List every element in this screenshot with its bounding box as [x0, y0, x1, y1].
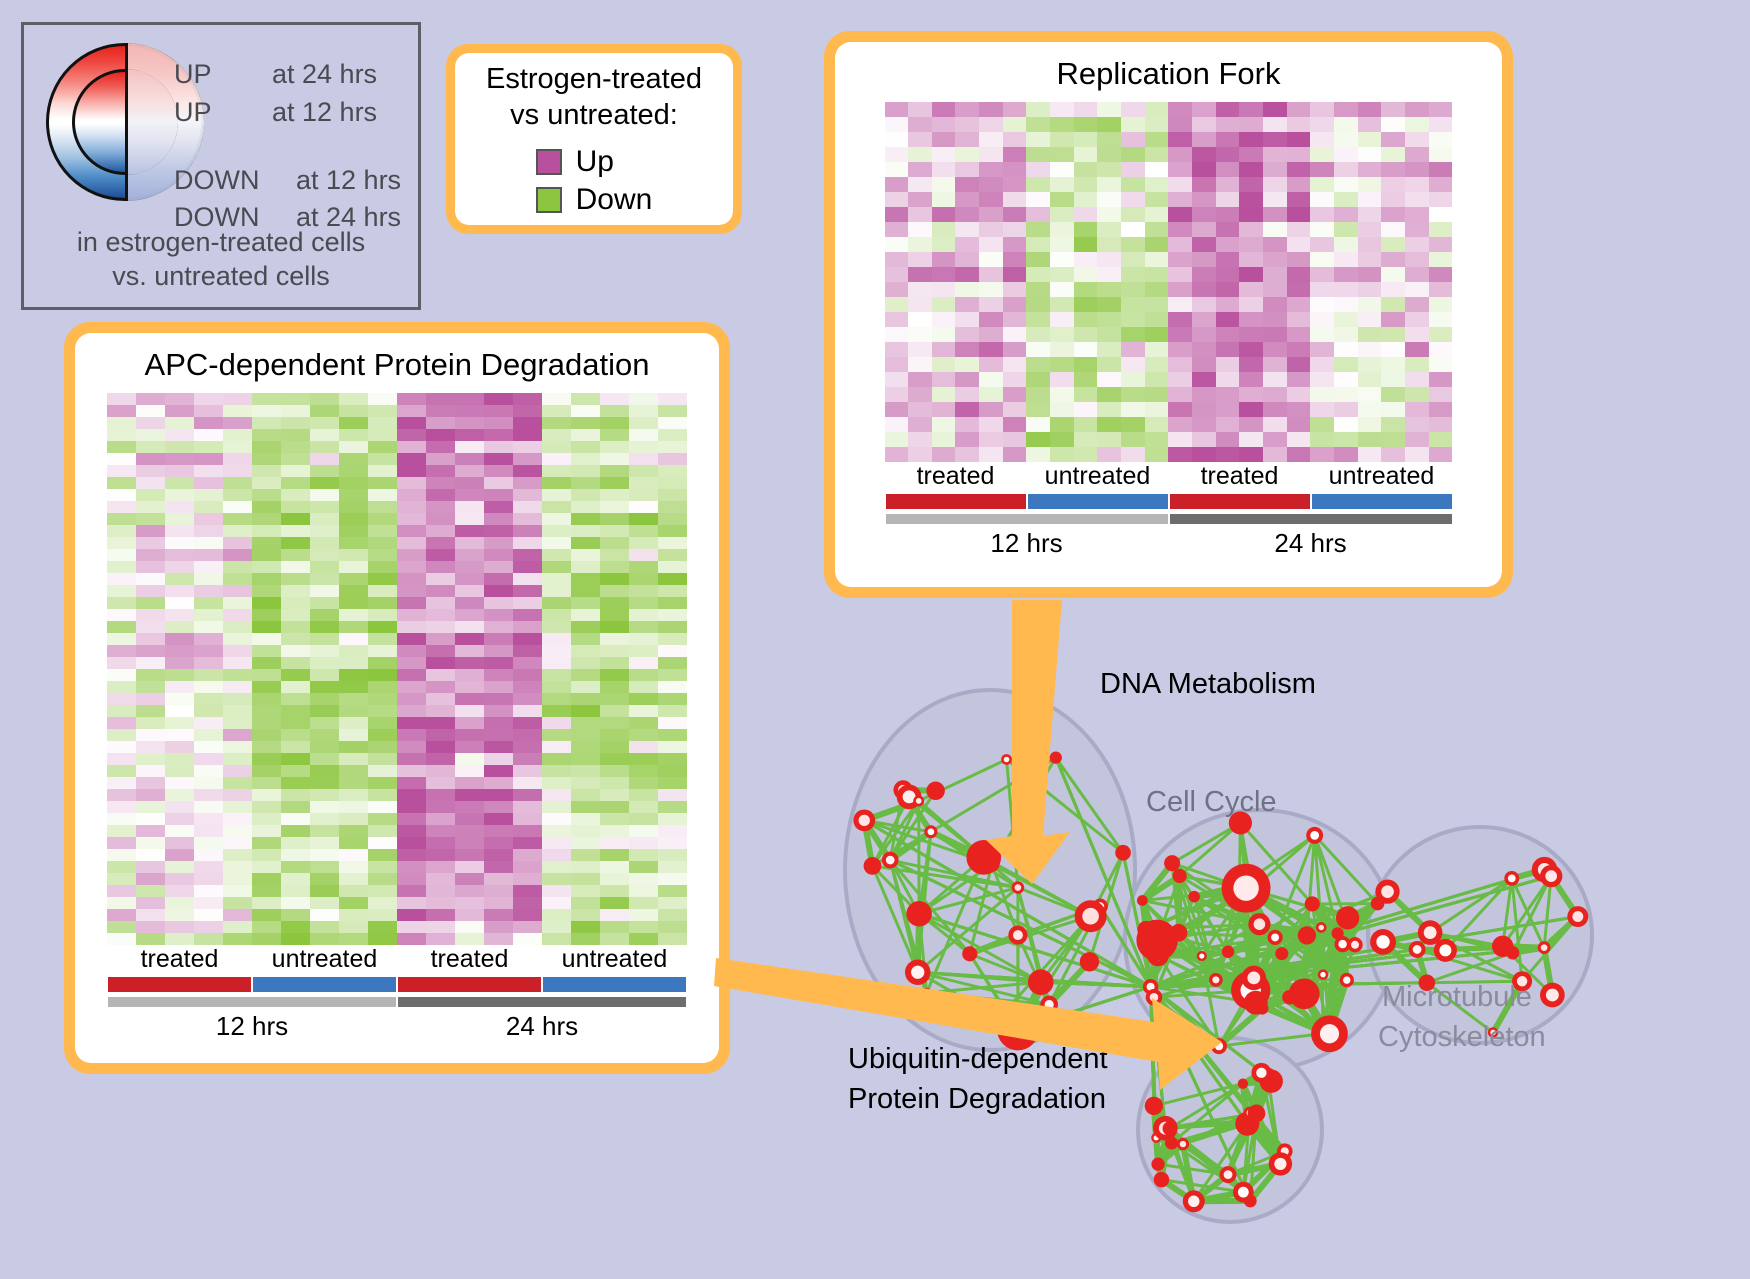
heatmap-cell	[136, 441, 165, 453]
heatmap-cell	[542, 645, 571, 657]
heatmap-cell	[600, 837, 629, 849]
heatmap-cell	[1239, 162, 1263, 177]
heatmap-cell	[571, 549, 600, 561]
heatmap-cell	[368, 453, 397, 465]
heatmap-cell	[368, 441, 397, 453]
network-node[interactable]	[1050, 752, 1062, 764]
heatmap-cell	[1239, 267, 1263, 282]
heatmap-cell	[339, 573, 368, 585]
heatmap-cell	[136, 885, 165, 897]
heatmap-cell	[1381, 357, 1405, 372]
heatmap-cell	[339, 657, 368, 669]
heatmap-cell	[1263, 252, 1287, 267]
heatmap-cell	[455, 489, 484, 501]
heatmap-cell	[1263, 297, 1287, 312]
heatmap-cell	[513, 405, 542, 417]
heatmap-cell	[1263, 282, 1287, 297]
network-node[interactable]	[1028, 969, 1054, 995]
heatmap-cell	[513, 489, 542, 501]
heatmap-cell	[1074, 102, 1098, 117]
heatmap-cell	[252, 897, 281, 909]
heatmap-cell	[1310, 282, 1334, 297]
heatmap-cell	[339, 825, 368, 837]
heatmap-cell	[1310, 222, 1334, 237]
heatmap-cell	[136, 765, 165, 777]
heatmap-cell	[542, 765, 571, 777]
heatmap-cell	[194, 813, 223, 825]
network-node[interactable]	[1248, 1104, 1266, 1122]
heatmap-cell	[455, 501, 484, 513]
heatmap-cell	[629, 621, 658, 633]
network-node[interactable]	[998, 1004, 1013, 1019]
heatmap-cell	[571, 717, 600, 729]
heatmap-cell	[600, 717, 629, 729]
heatmap-cell	[1239, 342, 1263, 357]
heatmap-cell	[455, 789, 484, 801]
network-node-core	[1013, 930, 1023, 940]
heatmap-cell	[310, 405, 339, 417]
network-node[interactable]	[1165, 1136, 1178, 1149]
heatmap-cell	[1358, 312, 1382, 327]
heatmap-cell	[1216, 207, 1240, 222]
heatmap-cell	[455, 477, 484, 489]
heatmap-cell	[1358, 372, 1382, 387]
heatmap-cell	[484, 789, 513, 801]
heatmap-cell	[1097, 282, 1121, 297]
heatmap-cell	[194, 597, 223, 609]
heatmap-cell	[194, 897, 223, 909]
heatmap-cell	[885, 297, 909, 312]
heatmap-cell	[1405, 117, 1429, 132]
heatmap-cell	[281, 417, 310, 429]
heatmap-cell	[513, 801, 542, 813]
heatmap-cell	[165, 897, 194, 909]
heatmap-cell	[339, 597, 368, 609]
heatmap-cell	[165, 453, 194, 465]
heatmap-cell	[397, 513, 426, 525]
heatmap-cell	[1381, 417, 1405, 432]
heatmap-cell	[339, 933, 368, 945]
heatmap-cell	[397, 465, 426, 477]
heatmap-cell	[1097, 222, 1121, 237]
heatmap-cell	[1429, 447, 1453, 462]
network-node[interactable]	[1305, 896, 1320, 911]
heatmap-cell	[1168, 207, 1192, 222]
heatmap-cell	[252, 801, 281, 813]
heatmap-cell	[194, 657, 223, 669]
heatmap-cell	[1405, 387, 1429, 402]
heatmap-cell	[885, 267, 909, 282]
heatmap-cell	[368, 717, 397, 729]
group-label-0: treated	[885, 462, 1027, 491]
heatmap-cell	[1381, 327, 1405, 342]
heatmap-cell	[1168, 132, 1192, 147]
heatmap-cell	[885, 402, 909, 417]
heatmap-cell	[194, 765, 223, 777]
heatmap-cell	[484, 921, 513, 933]
heatmap-cell	[310, 825, 339, 837]
heatmap-cell	[252, 681, 281, 693]
heatmap-cell	[223, 909, 252, 921]
network-node-core	[1274, 1158, 1286, 1170]
heatmap-cell	[1168, 447, 1192, 462]
heatmap-cell	[629, 789, 658, 801]
heatmap-cell	[426, 525, 455, 537]
heatmap-cell	[368, 633, 397, 645]
heatmap-cell	[252, 561, 281, 573]
heatmap-cell	[1287, 222, 1311, 237]
heatmap-cell	[1287, 297, 1311, 312]
heatmap-cell	[310, 753, 339, 765]
network-node-core	[1508, 875, 1516, 883]
heatmap-cell	[600, 729, 629, 741]
heatmap-cell	[368, 429, 397, 441]
heatmap-cell	[310, 597, 339, 609]
heatmap-cell	[223, 405, 252, 417]
heatmap-cell	[1405, 192, 1429, 207]
heatmap-cell	[1310, 432, 1334, 447]
network-node[interactable]	[1145, 1097, 1163, 1115]
heatmap-cell	[1239, 282, 1263, 297]
heatmap-cell	[1003, 147, 1027, 162]
heatmap-cell	[107, 465, 136, 477]
heatmap-cell	[1263, 357, 1287, 372]
network-node[interactable]	[984, 857, 999, 872]
heatmap-cell	[136, 873, 165, 885]
heatmap-cell	[1121, 417, 1145, 432]
network-node[interactable]	[1188, 891, 1199, 902]
heatmap-cell	[571, 861, 600, 873]
network-node[interactable]	[1298, 926, 1316, 944]
heatmap-cell	[368, 897, 397, 909]
heatmap-cell	[397, 753, 426, 765]
heatmap-cell	[600, 513, 629, 525]
heatmap-cell	[542, 561, 571, 573]
heatmap-cell	[252, 489, 281, 501]
network-node[interactable]	[906, 901, 932, 927]
heatmap-cell	[310, 645, 339, 657]
heatmap-cell	[165, 657, 194, 669]
heatmap-cell	[571, 429, 600, 441]
heatmap-cell	[955, 252, 979, 267]
heatmap-cell	[223, 921, 252, 933]
heatmap-cell	[484, 597, 513, 609]
heatmap-cell	[1263, 312, 1287, 327]
heatmap-cell	[571, 597, 600, 609]
heatmap-cell	[426, 477, 455, 489]
heatmap-cell	[194, 861, 223, 873]
heatmap-cell	[368, 549, 397, 561]
network-node-core	[1318, 925, 1324, 931]
heatmap-cell	[136, 813, 165, 825]
heatmap-cell	[397, 441, 426, 453]
heatmap-cell	[1026, 372, 1050, 387]
heatmap-cell	[629, 753, 658, 765]
heatmap-cell	[339, 561, 368, 573]
network-node-core	[886, 856, 895, 865]
heatmap-cell	[397, 561, 426, 573]
heatmap-cell	[1405, 132, 1429, 147]
heatmap-cell	[513, 897, 542, 909]
heatmap-cell	[223, 645, 252, 657]
heatmap-cell	[281, 765, 310, 777]
heatmap-cell	[136, 705, 165, 717]
heatmap-cell	[339, 429, 368, 441]
heatmap-cell	[932, 357, 956, 372]
heatmap-cell	[1405, 162, 1429, 177]
heatmap-cell	[281, 933, 310, 945]
heatmap-cell	[484, 429, 513, 441]
heatmap-cell	[397, 813, 426, 825]
heatmap-cell	[484, 861, 513, 873]
network-node[interactable]	[1154, 1172, 1169, 1187]
heatmap-cell	[281, 633, 310, 645]
legend-row-1-time: at 12 hrs	[272, 97, 377, 128]
heatmap-cell	[1239, 147, 1263, 162]
network-node[interactable]	[1336, 906, 1359, 929]
heatmap-cell	[1429, 327, 1453, 342]
heatmap-cell	[600, 657, 629, 669]
network-node-core	[1413, 945, 1422, 954]
time-label-0: 12 hrs	[107, 1011, 397, 1042]
heatmap-cell	[484, 825, 513, 837]
heatmap-cell	[1239, 357, 1263, 372]
heatmap-cell	[542, 693, 571, 705]
heatmap-cell	[542, 405, 571, 417]
network-node[interactable]	[1151, 1158, 1164, 1171]
heatmap-cell	[1263, 207, 1287, 222]
heatmap-cell	[194, 741, 223, 753]
heatmap-cell	[1168, 117, 1192, 132]
heatmap-cell	[455, 693, 484, 705]
heatmap-cell	[223, 765, 252, 777]
heatmap-cell	[397, 405, 426, 417]
heatmap-cell	[932, 372, 956, 387]
heatmap-cell	[1287, 402, 1311, 417]
network-node-core	[1247, 972, 1260, 985]
heatmap-cell	[1263, 432, 1287, 447]
heatmap-cell	[484, 465, 513, 477]
heatmap-cell	[1145, 102, 1169, 117]
network-node[interactable]	[1275, 947, 1288, 960]
heatmap-cell	[484, 633, 513, 645]
heatmap-cell	[1074, 387, 1098, 402]
heatmap-cell	[979, 162, 1003, 177]
network-node[interactable]	[1115, 845, 1131, 861]
heatmap-cell	[455, 645, 484, 657]
heatmap-cell	[310, 801, 339, 813]
heatmap-cell	[1381, 267, 1405, 282]
heatmap-cell	[1074, 132, 1098, 147]
heatmap-cell	[571, 417, 600, 429]
heatmap-cell	[426, 465, 455, 477]
network-node[interactable]	[1289, 978, 1320, 1009]
heatmap-cell	[955, 297, 979, 312]
heatmap-cell	[368, 465, 397, 477]
heatmap-cell	[223, 489, 252, 501]
heatmap-cell	[1145, 432, 1169, 447]
group-color-bars-apc	[107, 977, 687, 992]
heatmap-cell	[397, 729, 426, 741]
heatmap-cell	[368, 825, 397, 837]
network-node[interactable]	[1163, 1121, 1177, 1135]
heatmap-cell	[1145, 447, 1169, 462]
heatmap-cell	[1145, 297, 1169, 312]
network-node[interactable]	[864, 857, 882, 875]
heatmap-cell	[1429, 432, 1453, 447]
network-node-core	[1180, 1141, 1186, 1147]
heatmap-cell	[1216, 237, 1240, 252]
heatmap-cell	[600, 681, 629, 693]
heatmap-cell	[885, 372, 909, 387]
heatmap-cell	[600, 465, 629, 477]
apc-axis: treateduntreatedtreateduntreated 12 hrs2…	[107, 945, 687, 1042]
heatmap-cell	[1216, 372, 1240, 387]
heatmap-cell	[1050, 147, 1074, 162]
heatmap-cell	[484, 549, 513, 561]
group-label-3: untreated	[1311, 462, 1453, 491]
heatmap-cell	[1358, 282, 1382, 297]
heatmap-cell	[339, 669, 368, 681]
network-node[interactable]	[1164, 855, 1180, 871]
network-node[interactable]	[1244, 991, 1268, 1015]
heatmap-cell	[310, 885, 339, 897]
heatmap-cell	[513, 633, 542, 645]
heatmap-cell	[1145, 237, 1169, 252]
network-node[interactable]	[1173, 869, 1187, 883]
heatmap-cell	[629, 549, 658, 561]
heatmap-cell	[426, 693, 455, 705]
heatmap-cell	[281, 861, 310, 873]
heatmap-cell	[136, 477, 165, 489]
heatmap-cell	[223, 453, 252, 465]
network-node[interactable]	[1080, 952, 1099, 971]
heatmap-cell	[513, 393, 542, 405]
heatmap-cell	[223, 441, 252, 453]
heatmap-cell	[1003, 192, 1027, 207]
heatmap-cell	[571, 585, 600, 597]
heatmap-cell	[1429, 207, 1453, 222]
heatmap-cell	[455, 669, 484, 681]
heatmap-cell	[1097, 447, 1121, 462]
heatmap-cell	[165, 729, 194, 741]
heatmap-cell	[571, 897, 600, 909]
heatmap-cell	[1192, 402, 1216, 417]
heatmap-cell	[136, 549, 165, 561]
heatmap-cell	[310, 693, 339, 705]
heatmap-cell	[194, 825, 223, 837]
heatmap-cell	[1429, 357, 1453, 372]
heatmap-cell	[571, 909, 600, 921]
network-node-core	[911, 966, 924, 979]
heatmap-cell	[1381, 297, 1405, 312]
heatmap-cell	[252, 729, 281, 741]
heatmap-cell	[658, 597, 687, 609]
heatmap-cell	[136, 585, 165, 597]
heatmap-cell	[513, 933, 542, 945]
panel-replication-fork: Replication Fork treateduntreatedtreated…	[824, 31, 1513, 598]
heatmap-cell	[1287, 252, 1311, 267]
heatmap-cell	[1192, 282, 1216, 297]
heatmap-cell	[1168, 147, 1192, 162]
heatmap-cell	[1381, 342, 1405, 357]
heatmap-cell	[310, 909, 339, 921]
heatmap-cell	[426, 777, 455, 789]
network-node[interactable]	[1238, 1078, 1248, 1088]
network-node[interactable]	[1222, 946, 1234, 958]
heatmap-cell	[542, 441, 571, 453]
heatmap-cell	[194, 837, 223, 849]
network-node[interactable]	[1137, 895, 1148, 906]
heatmap-cell	[165, 861, 194, 873]
heatmap-cell	[932, 267, 956, 282]
heatmap-cell	[194, 909, 223, 921]
heatmap-cell	[932, 342, 956, 357]
heatmap-cell	[397, 825, 426, 837]
heatmap-cell	[1287, 207, 1311, 222]
heatmap-cell	[252, 813, 281, 825]
heatmap-cell	[1026, 192, 1050, 207]
heatmap-cell	[136, 393, 165, 405]
heatmap-cell	[600, 921, 629, 933]
network-node[interactable]	[962, 946, 977, 961]
heatmap-cell	[629, 465, 658, 477]
heatmap-cell	[281, 525, 310, 537]
heatmap-cell	[223, 393, 252, 405]
heatmap-cell	[339, 765, 368, 777]
heatmap-cell	[426, 417, 455, 429]
network-node[interactable]	[1492, 936, 1513, 957]
heatmap-cell	[455, 921, 484, 933]
heatmap-cell	[1026, 117, 1050, 132]
heatmap-cell	[1050, 297, 1074, 312]
heatmap-cell	[1429, 267, 1453, 282]
heatmap-cell	[455, 801, 484, 813]
heatmap-cell	[932, 147, 956, 162]
heatmap-cell	[1097, 207, 1121, 222]
heatmap-cell	[1003, 237, 1027, 252]
heatmap-cell	[1003, 102, 1027, 117]
heatmap-cell	[629, 693, 658, 705]
heatmap-cell	[397, 897, 426, 909]
heatmap-cell	[484, 669, 513, 681]
heatmap-cell	[932, 447, 956, 462]
heatmap-cell	[629, 489, 658, 501]
heatmap-replication-fork	[885, 102, 1453, 462]
network-node[interactable]	[1136, 920, 1177, 961]
heatmap-cell	[571, 693, 600, 705]
network-node[interactable]	[926, 782, 945, 801]
heatmap-cell	[1145, 282, 1169, 297]
heatmap-cell	[223, 513, 252, 525]
heatmap-cell	[1050, 432, 1074, 447]
heatmap-cell	[484, 717, 513, 729]
heatmap-cell	[1192, 192, 1216, 207]
heatmap-cell	[1168, 342, 1192, 357]
network-svg	[790, 600, 1750, 1279]
heatmap-cell	[397, 717, 426, 729]
network-node-core	[1541, 944, 1548, 951]
heatmap-cell	[455, 525, 484, 537]
pathway-network-diagram: DNA MetabolismCell CycleMicrotubuleCytos…	[790, 600, 1750, 1279]
heatmap-cell	[194, 705, 223, 717]
heatmap-cell	[513, 909, 542, 921]
heatmap-cell	[223, 885, 252, 897]
heatmap-cell	[455, 777, 484, 789]
heatmap-cell	[165, 549, 194, 561]
heatmap-cell	[1097, 432, 1121, 447]
heatmap-cell	[1050, 177, 1074, 192]
